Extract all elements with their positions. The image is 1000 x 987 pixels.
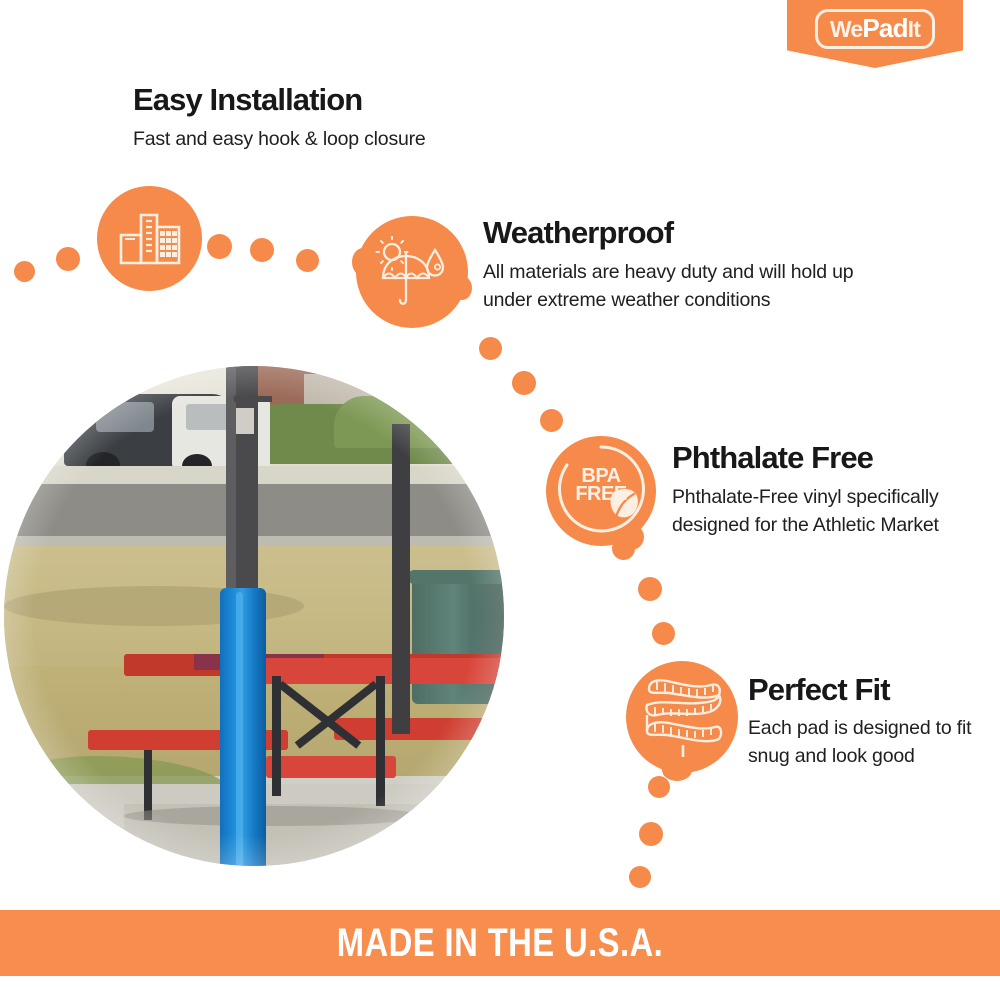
trail-dot (629, 866, 651, 888)
trail-dot (56, 247, 80, 271)
feature-description-easy-installation: Fast and easy hook & loop closure (133, 126, 426, 154)
made-in-usa-banner: MADE IN THE U.S.A. (0, 910, 1000, 976)
trail-dot (14, 261, 35, 282)
trail-dot (540, 409, 563, 432)
bpa-icon-text-line-2: FREE (546, 485, 656, 503)
measuring-tape-icon (626, 661, 738, 773)
brand-logo-badge: We Pad It (787, 0, 963, 68)
trail-dot (639, 822, 663, 846)
infographic-canvas: We Pad It Easy Installation Fast and eas… (0, 0, 1000, 987)
feature-description-weatherproof: All materials are heavy duty and will ho… (483, 259, 903, 314)
feature-title-easy-installation: Easy Installation (133, 82, 362, 118)
trail-dot (652, 622, 675, 645)
sun-umbrella-raindrop-icon (356, 216, 468, 328)
made-in-usa-text: MADE IN THE U.S.A. (337, 921, 663, 966)
feature-description-phthalate-free: Phthalate-Free vinyl specifically design… (672, 484, 942, 539)
feature-description-perfect-fit: Each pad is designed to fit snug and loo… (748, 715, 973, 770)
trail-dot (612, 537, 635, 560)
bpa-free-leaf-icon: BPA FREE (546, 436, 656, 546)
product-photo (4, 366, 504, 866)
trail-dot (296, 249, 319, 272)
brand-logo-frame: We Pad It (815, 9, 935, 49)
feature-title-weatherproof: Weatherproof (483, 215, 673, 251)
feature-title-perfect-fit: Perfect Fit (748, 672, 890, 708)
trail-dot (512, 371, 536, 395)
trail-dot (250, 238, 274, 262)
brand-logo-we: We (830, 18, 863, 41)
buildings-icon (97, 186, 202, 291)
brand-logo-it: It (908, 18, 920, 41)
trail-dot (479, 337, 502, 360)
feature-title-phthalate-free: Phthalate Free (672, 440, 873, 476)
trail-dot (648, 776, 670, 798)
trail-dot (207, 234, 232, 259)
brand-logo-pad: Pad (862, 15, 907, 41)
trail-dot (638, 577, 662, 601)
